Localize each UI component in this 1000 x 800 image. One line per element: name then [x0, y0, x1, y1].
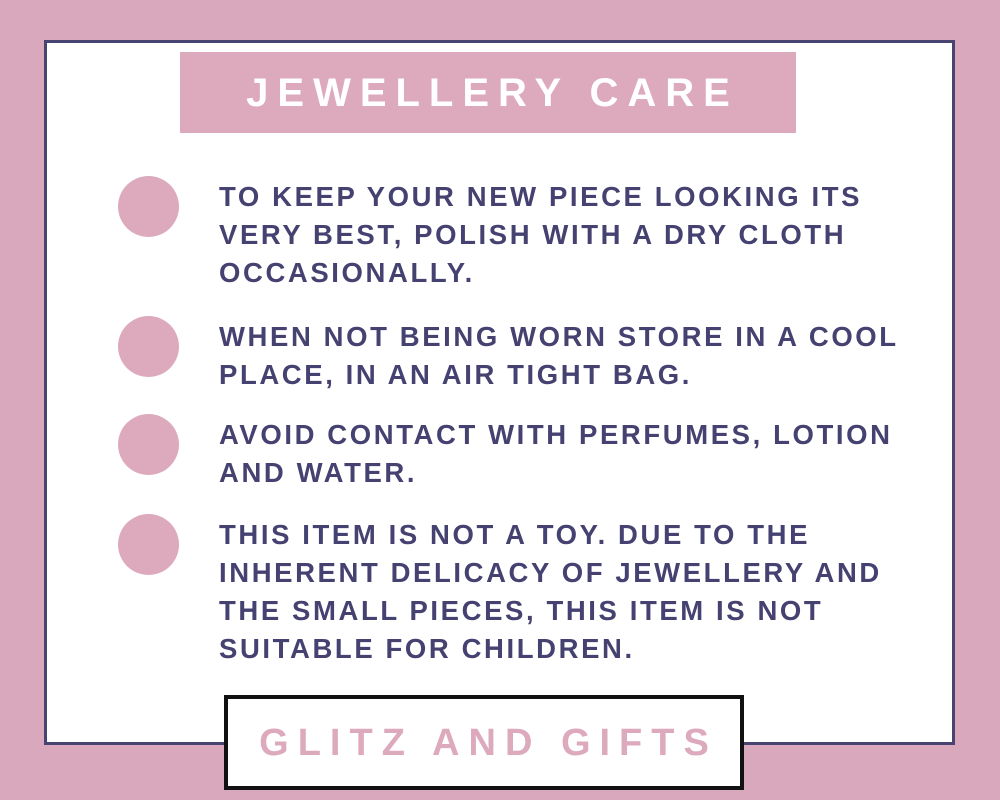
brand-plaque: GLITZ AND GIFTS: [224, 695, 744, 790]
list-item: WHEN NOT BEING WORN STORE IN A COOL PLAC…: [118, 316, 918, 394]
jewellery-care-poster: JEWELLERY CARE TO KEEP YOUR NEW PIECE LO…: [0, 0, 1000, 800]
title-banner: JEWELLERY CARE: [180, 52, 796, 133]
page-title: JEWELLERY CARE: [237, 73, 739, 113]
bullet-dot-icon: [118, 176, 179, 237]
list-item: THIS ITEM IS NOT A TOY. DUE TO THE INHER…: [118, 514, 918, 668]
care-instruction-text: AVOID CONTACT WITH PERFUMES, LOTION AND …: [219, 414, 918, 492]
care-instructions-list: TO KEEP YOUR NEW PIECE LOOKING ITS VERY …: [118, 176, 918, 668]
brand-name: GLITZ AND GIFTS: [250, 724, 718, 762]
bullet-dot-icon: [118, 414, 179, 475]
bullet-dot-icon: [118, 316, 179, 377]
care-instruction-text: THIS ITEM IS NOT A TOY. DUE TO THE INHER…: [219, 514, 918, 668]
care-instruction-text: TO KEEP YOUR NEW PIECE LOOKING ITS VERY …: [219, 176, 918, 292]
list-item: TO KEEP YOUR NEW PIECE LOOKING ITS VERY …: [118, 176, 918, 292]
care-instruction-text: WHEN NOT BEING WORN STORE IN A COOL PLAC…: [219, 316, 918, 394]
bullet-dot-icon: [118, 514, 179, 575]
list-item: AVOID CONTACT WITH PERFUMES, LOTION AND …: [118, 414, 918, 492]
